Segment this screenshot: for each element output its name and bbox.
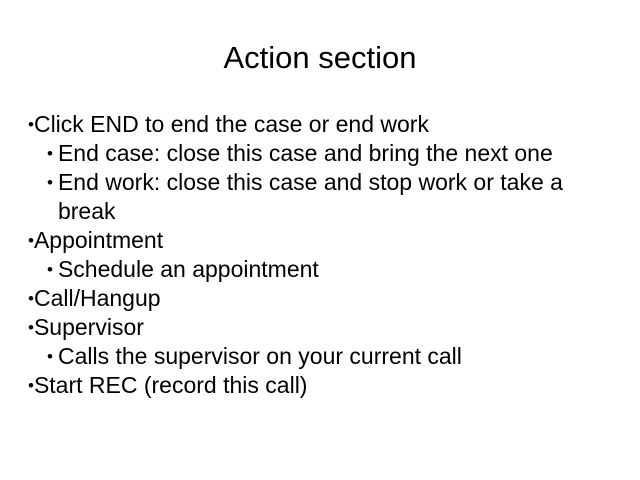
list-item-label: Supervisor: [34, 313, 618, 342]
list-item: • Call/Hangup: [28, 284, 618, 313]
bullet-marker-icon: •: [47, 342, 58, 371]
list-item: • Calls the supervisor on your current c…: [28, 342, 618, 371]
list-item: • End work: close this case and stop wor…: [28, 168, 618, 226]
list-item: • Appointment: [28, 226, 618, 255]
page-title: Action section: [0, 40, 640, 76]
list-item: • Click END to end the case or end work: [28, 110, 618, 139]
list-item-label: End case: close this case and bring the …: [58, 139, 615, 168]
list-item: • End case: close this case and bring th…: [28, 139, 618, 168]
list-item: • Supervisor: [28, 313, 618, 342]
list-item-label: Call/Hangup: [34, 284, 618, 313]
list-item-label: Schedule an appointment: [58, 255, 615, 284]
list-item-label: Start REC (record this call): [34, 371, 618, 400]
list-item-label: Calls the supervisor on your current cal…: [58, 342, 615, 371]
bullet-marker-icon: •: [47, 255, 58, 284]
list-item-label: Click END to end the case or end work: [34, 110, 618, 139]
bullet-list: • Click END to end the case or end work …: [28, 110, 618, 400]
list-item: • Schedule an appointment: [28, 255, 618, 284]
bullet-marker-icon: •: [47, 139, 58, 168]
bullet-marker-icon: •: [47, 168, 58, 197]
list-item-label: End work: close this case and stop work …: [58, 168, 615, 226]
list-item: • Start REC (record this call): [28, 371, 618, 400]
slide: Action section • Click END to end the ca…: [0, 0, 640, 480]
list-item-label: Appointment: [34, 226, 618, 255]
